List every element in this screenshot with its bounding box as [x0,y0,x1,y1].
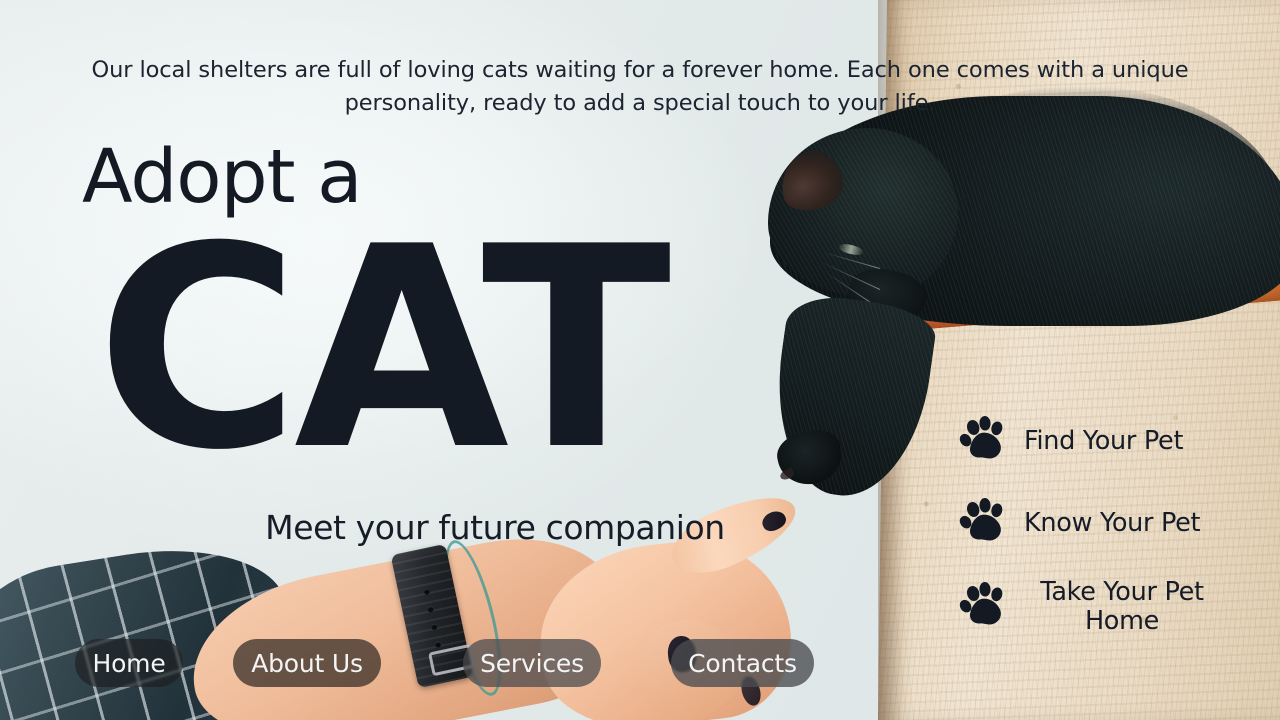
feature-label: Find Your Pet [1024,427,1183,456]
nav-item-home[interactable]: Home [75,639,183,687]
hero-stage: Our local shelters are full of loving ca… [0,0,1280,720]
feature-item-know-your-pet[interactable]: Know Your Pet [958,496,1258,550]
nav-item-contacts[interactable]: Contacts [671,639,814,687]
feature-label: Take Your Pet Home [1024,578,1220,635]
feature-item-find-your-pet[interactable]: Find Your Pet [958,414,1258,468]
nav-item-services[interactable]: Services [463,639,601,687]
feature-item-take-your-pet-home[interactable]: Take Your Pet Home [958,578,1258,635]
feature-label: Know Your Pet [1024,509,1200,538]
feature-list: Find Your Pet Know Your Pet [958,414,1258,635]
page-title: CAT [96,222,665,478]
tagline: Meet your future companion [0,508,990,547]
nav-item-about-us[interactable]: About Us [233,639,381,687]
main-navigation: Home About Us Services Contacts [75,639,814,687]
intro-paragraph: Our local shelters are full of loving ca… [90,54,1190,119]
paw-print-icon [958,414,1012,468]
paw-print-icon [958,580,1012,634]
paw-print-icon [958,496,1012,550]
